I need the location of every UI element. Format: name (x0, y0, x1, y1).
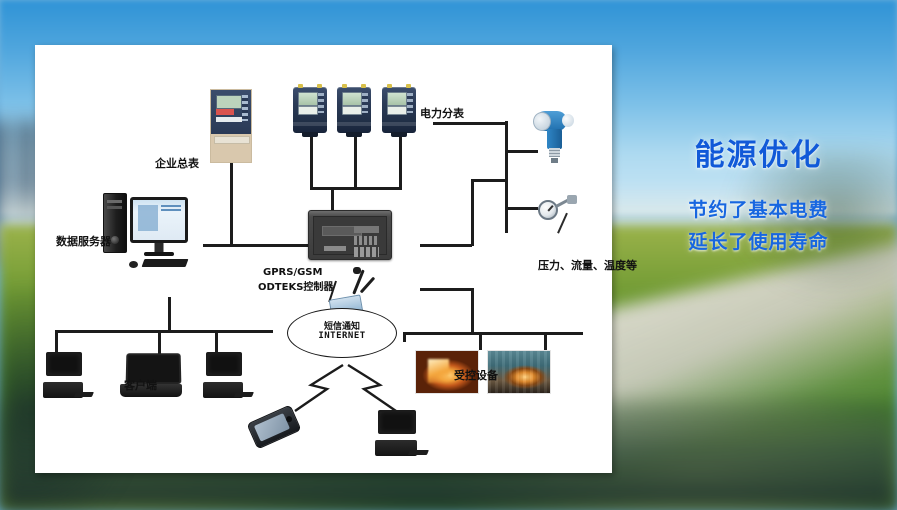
label-gprs-gsm: GPRS/GSM (263, 267, 322, 278)
submeter-clip-icon (342, 84, 347, 88)
power-submeter-3[interactable] (382, 87, 416, 133)
submeter-display (387, 92, 407, 106)
submeter-terminals (318, 93, 324, 113)
client-left-keyboard[interactable] (74, 392, 94, 397)
headline-text: 能源优化 (620, 130, 897, 174)
transmitter-process-connection (551, 158, 558, 163)
diagram-canvas: 企业总表 电力分表 (35, 45, 612, 473)
wireless-link-left-icon (271, 363, 351, 419)
line-sensor-bus-left-leg (471, 179, 507, 182)
client-pc-left[interactable] (43, 352, 83, 398)
pressure-transmitter-device[interactable] (535, 107, 573, 161)
data-server-monitor[interactable] (130, 197, 188, 243)
submeter-terminals (407, 93, 413, 113)
bullet-2: 延长了使用寿命 (620, 226, 897, 258)
data-server-mouse[interactable] (129, 261, 138, 268)
power-submeter-1[interactable] (293, 87, 327, 133)
line-branch-transmitter (505, 150, 538, 153)
submeter-clip-icon (298, 84, 303, 88)
transmitter-thread (549, 148, 560, 157)
controller-status-display (354, 226, 379, 233)
enterprise-meter-device[interactable] (210, 89, 252, 163)
client-pc-right[interactable] (203, 352, 243, 398)
wireless-link-right-icon (340, 363, 420, 419)
line-sensor-vertical-bus (505, 123, 508, 233)
enterprise-meter-faceplate (211, 90, 251, 134)
enterprise-meter-terminals (242, 95, 248, 121)
client-right-keyboard[interactable] (234, 392, 254, 397)
line-equipment-drop-1 (479, 332, 482, 350)
client-left-monitor (46, 352, 78, 382)
line-controller-right-riser (471, 179, 474, 246)
enterprise-meter-nameplate (214, 136, 250, 144)
modem-antenna-base (353, 267, 361, 274)
gauge-fitting (567, 195, 577, 204)
line-client-drop-1 (55, 330, 58, 354)
controller-faceplate (313, 216, 387, 255)
label-data-server: 数据服务器 (56, 233, 111, 249)
line-submeter2-drop (354, 133, 357, 189)
submeter-clip-icon (387, 84, 392, 88)
line-controller-to-server (203, 244, 311, 247)
line-controller-right-out (420, 244, 472, 247)
enterprise-meter-display (216, 95, 242, 109)
submeter-subdisplay (298, 106, 318, 115)
submeter-clip-icon (317, 84, 322, 88)
submeter-display (298, 92, 318, 106)
diagram-panel: 企业总表 电力分表 (35, 45, 612, 473)
bullet-list: 节约了基本电费 延长了使用寿命 (620, 194, 897, 258)
controller-keypad-row-2[interactable] (354, 247, 379, 257)
submeter-band (382, 122, 416, 126)
submeter-display (342, 92, 362, 106)
submeter-subdisplay (387, 106, 407, 115)
submeter-subdisplay (342, 106, 362, 115)
line-equipment-bus-end (403, 332, 406, 342)
line-submeter-bus (310, 187, 402, 190)
line-submeter3-drop (399, 133, 402, 189)
line-controller-to-equipment-riser (471, 288, 474, 332)
client-left-screen (46, 352, 82, 376)
enterprise-meter-label-strip (216, 117, 242, 122)
monitor-foot (144, 252, 174, 256)
submeter-clip-icon (361, 84, 366, 88)
transmitter-cover-cap (562, 114, 574, 127)
line-client-drop-3 (215, 330, 218, 354)
line-submeter-bus-to-controller (331, 187, 334, 211)
line-sensor-bus-header (433, 122, 507, 125)
dial-gauge-device[interactable] (538, 200, 558, 220)
label-enterprise-meter: 企业总表 (155, 155, 199, 171)
enterprise-meter-indicator (216, 109, 234, 115)
label-clients: 客户端 (124, 377, 157, 393)
remote-pc-keyboard[interactable] (408, 450, 429, 455)
server-optical-drive (107, 200, 122, 203)
line-branch-gauge (505, 207, 538, 210)
line-server-to-client-riser (168, 297, 171, 331)
controller-port-block (324, 246, 346, 251)
server-power-button[interactable] (111, 236, 119, 244)
label-sensors: 压力、流量、温度等 (538, 257, 637, 273)
submeter-terminal-block (302, 132, 318, 137)
label-power-submeter: 电力分表 (420, 105, 464, 121)
data-server-keyboard[interactable] (142, 259, 189, 267)
internet-cloud[interactable]: 短信通知 INTERNET (287, 308, 397, 358)
line-equipment-drop-2 (544, 332, 547, 350)
submeter-clip-icon (406, 84, 411, 88)
bullet-1: 节约了基本电费 (620, 194, 897, 226)
line-submeter1-drop (310, 133, 313, 189)
line-controller-equipment-out (420, 288, 473, 291)
label-controlled-equipment: 受控设备 (454, 367, 498, 383)
odteks-controller-device[interactable] (308, 210, 392, 260)
submeter-terminals (362, 93, 368, 113)
modem-antenna-2 (360, 277, 376, 294)
marketing-copy: 能源优化 节约了基本电费 延长了使用寿命 (620, 130, 897, 258)
gauge-cable (557, 213, 567, 234)
controller-keypad-row-1[interactable] (354, 236, 379, 245)
transmitter-body (547, 129, 562, 149)
submeter-band (337, 122, 371, 126)
label-odteks-controller: ODTEKS控制器 (258, 278, 333, 293)
submeter-band (293, 122, 327, 126)
submeter-terminal-block (346, 132, 362, 137)
monitor-screen-content (133, 200, 185, 240)
line-client-drop-2 (158, 330, 161, 354)
cloud-line-2: INTERNET (288, 331, 396, 341)
server-drive-bay (107, 206, 122, 209)
client-right-screen (206, 352, 242, 376)
client-right-monitor (206, 352, 238, 382)
line-client-bus (55, 330, 273, 333)
power-submeter-2[interactable] (337, 87, 371, 133)
line-equipment-bus (403, 332, 583, 335)
line-enterprise-meter-drop (230, 160, 233, 245)
submeter-terminal-block (391, 132, 407, 137)
